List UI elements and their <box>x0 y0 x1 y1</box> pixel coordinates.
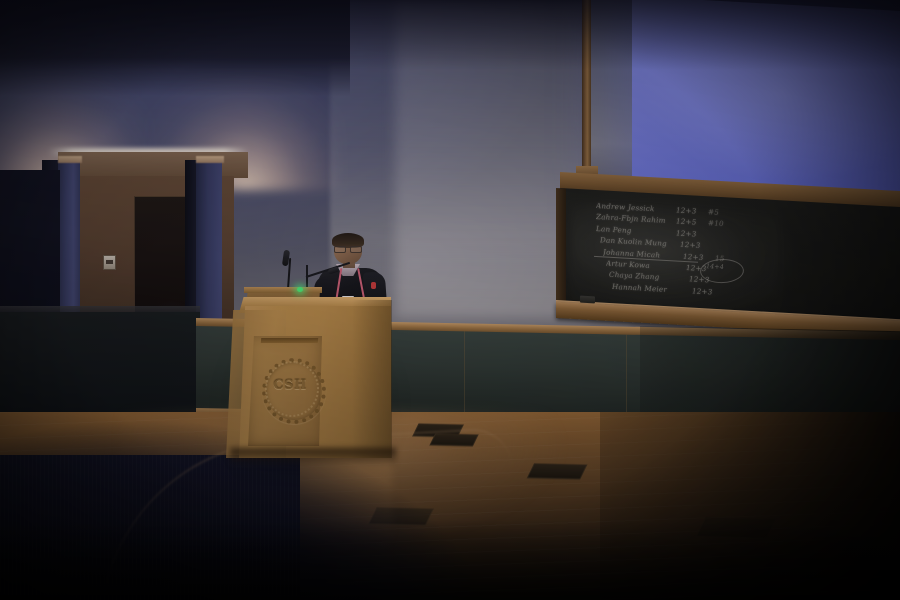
lecture-hall-photo: Andrew Jessick12+3#5Zahra-Fbjn Rahim12+5… <box>0 0 900 600</box>
bottom-darkening <box>0 520 900 600</box>
vignette-overlay <box>0 0 900 600</box>
top-darkening <box>0 0 900 70</box>
